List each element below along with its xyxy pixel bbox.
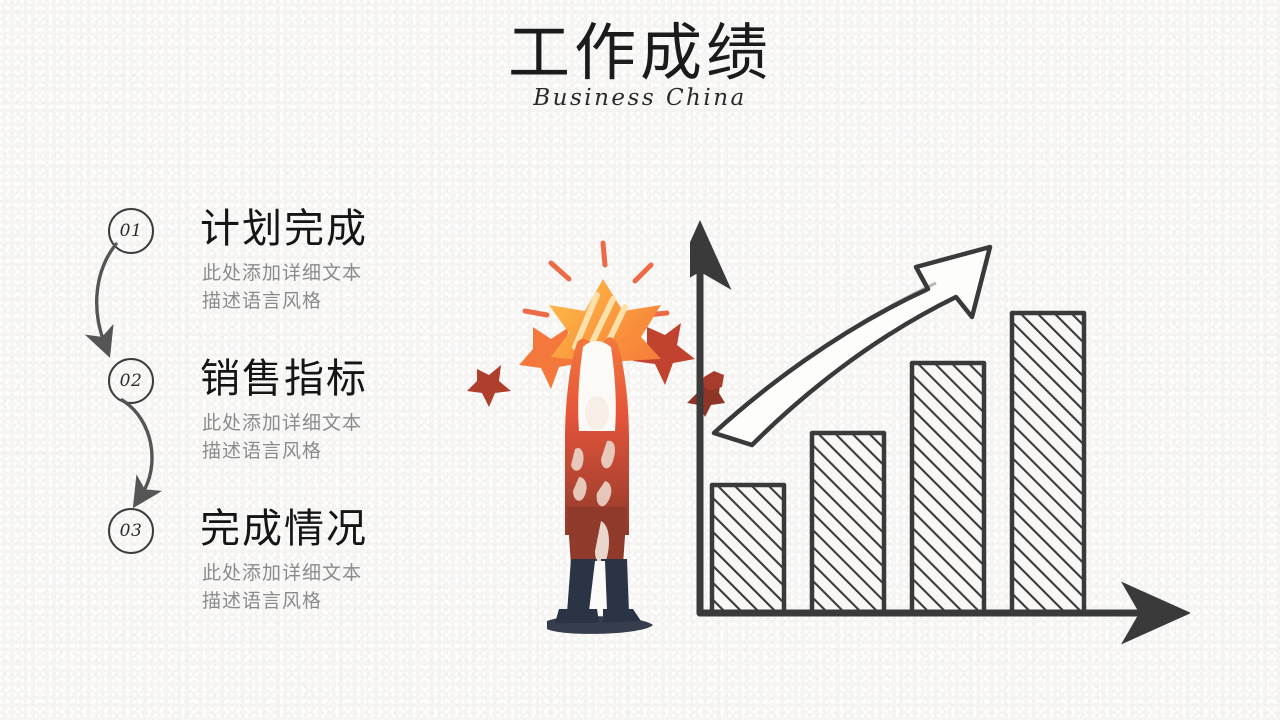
connector-arrow-1 — [97, 244, 116, 342]
agenda-connector-arrows — [88, 238, 218, 578]
agenda-description-02: 此处添加详细文本 描述语言风格 — [202, 410, 362, 465]
star-small-left-icon — [467, 365, 511, 407]
bar-1 — [712, 485, 784, 612]
bar-group — [712, 313, 1084, 612]
figure-head — [585, 396, 609, 430]
agenda-heading-03: 完成情况 — [200, 496, 368, 554]
agenda-heading-02: 销售指标 — [200, 346, 368, 404]
bar-2 — [812, 433, 884, 612]
red-spark-mark-icon — [702, 371, 724, 391]
bar-chart — [690, 205, 1190, 645]
celebration-illustration — [455, 235, 725, 635]
bar-3 — [912, 363, 984, 612]
agenda-description-03: 此处添加详细文本 描述语言风格 — [202, 560, 362, 615]
title-block: 工作成绩 Business China — [0, 22, 1280, 111]
connector-arrow-2 — [122, 400, 152, 494]
agenda-description-01: 此处添加详细文本 描述语言风格 — [202, 260, 362, 315]
slide-canvas: 工作成绩 Business China 01 计划完成 此处添加详细文本 描述语… — [0, 0, 1280, 720]
page-subtitle: Business China — [0, 85, 1280, 111]
page-title: 工作成绩 — [0, 22, 1280, 87]
agenda-heading-01: 计划完成 — [200, 196, 368, 254]
bar-4 — [1012, 313, 1084, 612]
